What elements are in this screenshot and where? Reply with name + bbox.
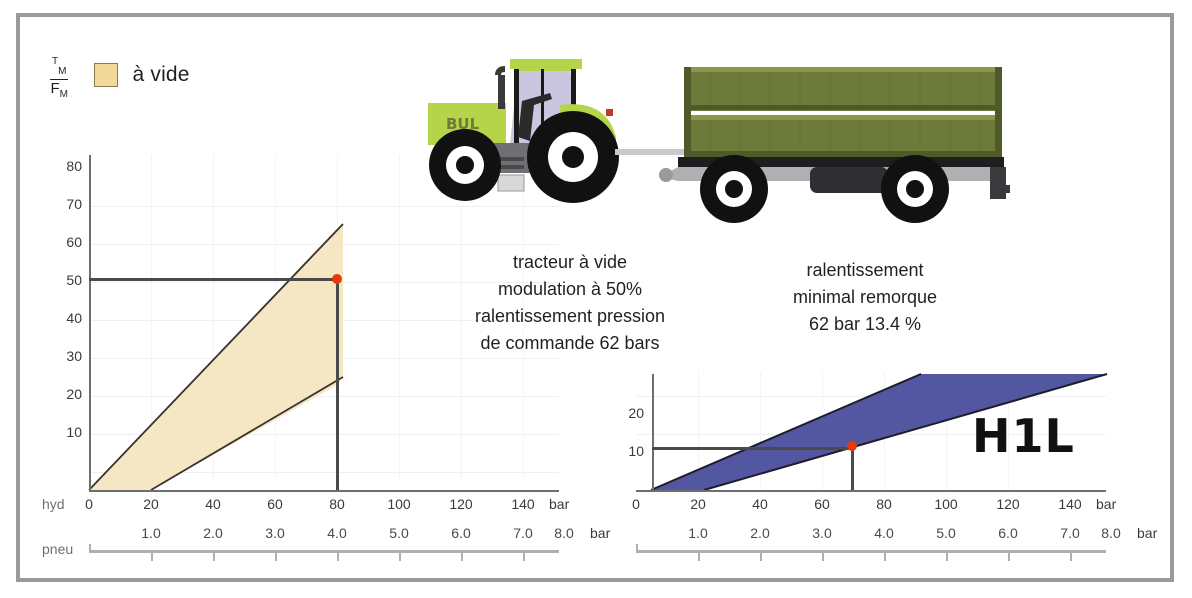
caption-trailer-line: minimal remorque xyxy=(735,284,995,311)
ruler-tick xyxy=(760,553,762,561)
y-tick-label: 20 xyxy=(48,386,82,402)
pneu-ruler xyxy=(89,550,559,553)
ruler-tick xyxy=(698,553,700,561)
x-tick-label-hyd: 120 xyxy=(988,496,1028,512)
x-tick-label-hyd: 80 xyxy=(317,496,357,512)
x-tick-label-pneu: 1.0 xyxy=(678,525,718,541)
y-tick-label: 30 xyxy=(48,348,82,364)
y-tick-label: 80 xyxy=(48,158,82,174)
x-tick-label-hyd: 60 xyxy=(255,496,295,512)
caption-trailer: ralentissement minimal remorque 62 bar 1… xyxy=(735,257,995,338)
ruler-tick xyxy=(946,553,948,561)
ruler-tick xyxy=(461,553,463,561)
marker-line-horizontal xyxy=(652,447,852,450)
x-tick-label-pneu: 2.0 xyxy=(740,525,780,541)
x-tick-label-hyd: 40 xyxy=(740,496,780,512)
ruler-tick xyxy=(337,553,339,561)
right-chart-y-axis xyxy=(652,374,654,492)
x-tick-label-hyd: 140 xyxy=(1050,496,1090,512)
caption-trailer-line: 62 bar 13.4 % xyxy=(735,311,995,338)
x-tick-label-pneu: 4.0 xyxy=(317,525,357,541)
x-tick-label-pneu: 1.0 xyxy=(131,525,171,541)
ruler-tick xyxy=(399,553,401,561)
x-tick-label-hyd: 100 xyxy=(926,496,966,512)
ruler-tick xyxy=(884,553,886,561)
y-tick-label: 60 xyxy=(48,234,82,250)
drawbar xyxy=(615,149,695,155)
ruler-tick xyxy=(523,553,525,561)
x-axis-unit-hyd: bar xyxy=(1096,496,1116,512)
y-tick-label: 20 xyxy=(610,405,644,421)
caption-tractor: tracteur à vide modulation à 50% ralenti… xyxy=(420,249,720,357)
x-tick-label-hyd: 80 xyxy=(864,496,904,512)
x-tick-label-pneu: 6.0 xyxy=(988,525,1028,541)
x-axis-unit-hyd: bar xyxy=(549,496,569,512)
marker-line-vertical xyxy=(336,278,339,490)
x-tick-label-pneu: 2.0 xyxy=(193,525,233,541)
x-tick-label-hyd: 40 xyxy=(193,496,233,512)
x-tick-label-hyd: 60 xyxy=(802,496,842,512)
x-tick-label-hyd: 20 xyxy=(678,496,718,512)
ruler-tick xyxy=(822,553,824,561)
x-tick-label-hyd: 140 xyxy=(503,496,543,512)
x-tick-label-hyd: 100 xyxy=(379,496,419,512)
pneu-ruler xyxy=(636,550,1106,553)
x-axis-name-pneu: pneu xyxy=(42,541,73,557)
y-tick-label: 40 xyxy=(48,310,82,326)
tractor-icon: BUL xyxy=(428,59,619,203)
trailer-icon xyxy=(659,67,1010,223)
ruler-tick xyxy=(1070,553,1072,561)
caption-tractor-line: modulation à 50% xyxy=(420,276,720,303)
x-tick-label-pneu: 8.0 xyxy=(544,525,584,541)
x-tick-label-pneu: 8.0 xyxy=(1091,525,1131,541)
x-tick-label-pneu: 4.0 xyxy=(864,525,904,541)
x-tick-label-pneu: 7.0 xyxy=(503,525,543,541)
left-chart-y-axis xyxy=(89,155,91,492)
ruler-tick xyxy=(275,553,277,561)
caption-tractor-line: ralentissement pression xyxy=(420,303,720,330)
x-tick-label-hyd: 120 xyxy=(441,496,481,512)
x-tick-label-hyd: 0 xyxy=(69,496,109,512)
x-tick-label-pneu: 5.0 xyxy=(379,525,419,541)
marker-dot xyxy=(332,274,342,284)
y-tick-label: 50 xyxy=(48,272,82,288)
caption-tractor-line: tracteur à vide xyxy=(420,249,720,276)
x-axis-unit-pneu: bar xyxy=(590,525,610,541)
x-tick-label-pneu: 6.0 xyxy=(441,525,481,541)
x-tick-label-pneu: 3.0 xyxy=(255,525,295,541)
marker-line-horizontal xyxy=(89,278,337,281)
x-tick-label-pneu: 5.0 xyxy=(926,525,966,541)
x-tick-label-hyd: 20 xyxy=(131,496,171,512)
y-tick-label: 70 xyxy=(48,196,82,212)
ruler-tick xyxy=(1008,553,1010,561)
x-tick-label-pneu: 7.0 xyxy=(1050,525,1090,541)
x-axis-name-hyd: hyd xyxy=(42,496,65,512)
caption-trailer-line: ralentissement xyxy=(735,257,995,284)
caption-tractor-line: de commande 62 bars xyxy=(420,330,720,357)
y-tick-label: 10 xyxy=(48,424,82,440)
marker-line-vertical xyxy=(851,447,854,490)
y-tick-label: 10 xyxy=(610,443,644,459)
left-chart-x-axis xyxy=(89,490,559,492)
marker-dot xyxy=(847,441,857,451)
x-tick-label-pneu: 3.0 xyxy=(802,525,842,541)
ruler-tick xyxy=(213,553,215,561)
x-axis-unit-pneu: bar xyxy=(1137,525,1157,541)
x-tick-label-hyd: 0 xyxy=(616,496,656,512)
right-chart-x-axis xyxy=(636,490,1106,492)
ruler-tick xyxy=(151,553,153,561)
model-label: H1L xyxy=(972,409,1075,463)
tractor-badge: BUL xyxy=(446,115,480,133)
diagram-frame: TM FM à vide xyxy=(16,13,1174,582)
vehicle-illustration: BUL xyxy=(410,45,1010,225)
